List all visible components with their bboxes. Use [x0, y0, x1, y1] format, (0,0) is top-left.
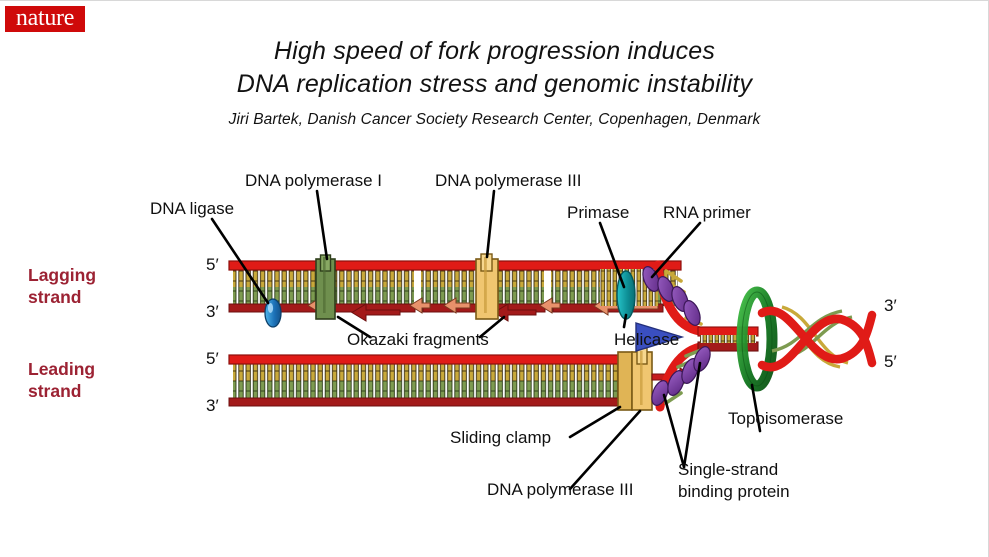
slide-subtitle: Jiri Bartek, Danish Cancer Society Resea…	[0, 111, 989, 129]
leading-strand-label-line1: Leading	[28, 359, 95, 379]
leader-dna-polymerase-iii-bottom	[570, 411, 640, 489]
leading-strand-label-line2: strand	[28, 381, 81, 401]
dna-polymerase-i-icon	[316, 255, 335, 319]
dna-polymerase-iii-lagging-icon	[476, 254, 498, 319]
lagging-strand-label-line1: Lagging	[28, 265, 96, 285]
dna-polymerase-iii-leading-icon	[632, 348, 652, 410]
lagging-strand-label-line2: strand	[28, 287, 81, 307]
slide-canvas: nature High speed of fork progression in…	[0, 0, 989, 557]
leader-sliding-clamp	[570, 407, 620, 437]
nature-logo: nature	[5, 6, 85, 32]
leading-top-backbone	[229, 355, 624, 364]
lagging-5prime-label: 5′	[206, 255, 219, 274]
helix-5prime-label: 5′	[884, 352, 897, 371]
topoisomerase-icon	[742, 292, 772, 386]
nature-wordmark: nature	[16, 6, 74, 32]
slide-title-line-1: High speed of fork progression induces	[0, 37, 989, 66]
label-helicase: Helicase	[614, 330, 679, 349]
lagging-top-backbone	[229, 261, 681, 270]
lagging-3prime-label: 3′	[206, 302, 219, 321]
lagging-strand-group	[229, 254, 681, 327]
label-rna-primer: RNA primer	[663, 203, 751, 222]
leading-bases-upper	[233, 363, 618, 381]
helix-3prime-label: 3′	[884, 296, 897, 315]
label-primase: Primase	[567, 203, 629, 222]
label-dna-polymerase-i: DNA polymerase I	[245, 171, 382, 190]
leader-dna-polymerase-iii-top	[487, 191, 494, 257]
label-ssb-line2: binding protein	[678, 482, 790, 501]
leading-strand-group	[229, 348, 694, 410]
leading-5prime-label: 5′	[206, 349, 219, 368]
slide-title-line-2: DNA replication stress and genomic insta…	[0, 70, 989, 99]
sliding-clamp-icon	[618, 352, 632, 410]
dna-replication-diagram: Lagging strand 5′ 3′ Leading strand 5′ 3…	[0, 141, 989, 541]
label-sliding-clamp: Sliding clamp	[450, 428, 551, 447]
leading-bases-lower	[233, 381, 618, 400]
label-dna-polymerase-iii-top: DNA polymerase III	[435, 171, 581, 190]
label-ssb-line1: Single-strand	[678, 460, 778, 479]
dna-double-helix	[762, 307, 872, 367]
leading-bottom-backbone	[229, 398, 624, 406]
leader-ssb-1	[664, 395, 684, 467]
label-dna-ligase: DNA ligase	[150, 199, 234, 218]
leader-dna-polymerase-i	[317, 191, 327, 259]
label-okazaki-fragments: Okazaki fragments	[347, 330, 489, 349]
label-dna-polymerase-iii-bottom: DNA polymerase III	[487, 480, 633, 499]
label-topoisomerase: Topoisomerase	[728, 409, 843, 428]
leading-3prime-label: 3′	[206, 396, 219, 415]
